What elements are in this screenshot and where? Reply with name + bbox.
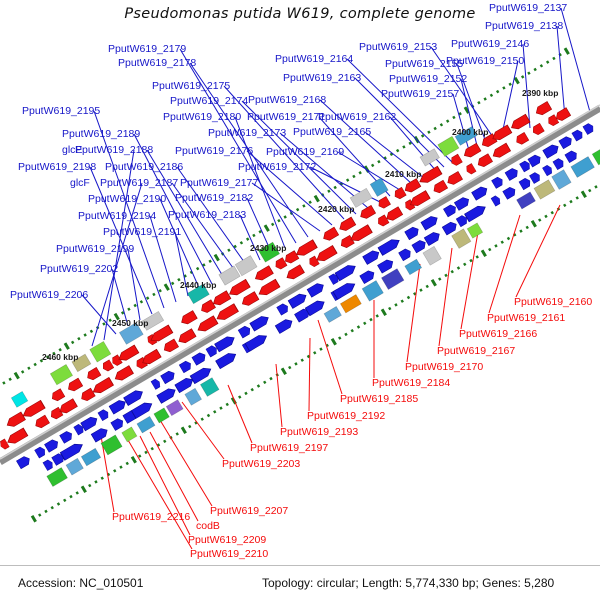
forward-gene-arrow[interactable] <box>472 185 490 200</box>
gene-label[interactable]: PputW619_2190 <box>88 194 166 205</box>
axis-tick-mark <box>494 244 497 247</box>
axis-tick-mark <box>271 223 274 226</box>
axis-tick-mark <box>358 171 361 174</box>
forward-gene-arrow[interactable] <box>528 153 543 167</box>
axis-tick-mark <box>214 254 220 262</box>
forward-gene-arrow[interactable] <box>98 408 110 420</box>
forward-gene-arrow[interactable] <box>572 129 584 141</box>
gene-label[interactable]: PputW619_2202 <box>40 264 118 275</box>
gene-feature-box[interactable] <box>200 378 219 397</box>
forward-gene-arrow[interactable] <box>109 398 127 414</box>
label-leader-line <box>228 385 252 443</box>
axis-tick-mark <box>196 267 199 270</box>
axis-tick-mark <box>344 333 347 336</box>
reverse-gene-arrow[interactable] <box>6 428 28 446</box>
forward-gene-arrow[interactable] <box>505 167 520 181</box>
axis-tick-mark <box>44 510 47 513</box>
axis-tick-mark <box>451 270 454 273</box>
gene-label[interactable]: PputW619_2179 <box>108 44 186 55</box>
gene-label[interactable]: glcE <box>62 145 82 156</box>
axis-tick-mark <box>551 211 554 214</box>
reverse-gene-arrow[interactable] <box>509 114 530 131</box>
reverse-gene-arrow[interactable] <box>101 360 114 373</box>
axis-tick-mark <box>401 299 404 302</box>
reverse-gene-arrow[interactable] <box>403 179 421 195</box>
label-leader-line <box>252 183 320 231</box>
forward-gene-arrow[interactable] <box>43 459 55 471</box>
axis-tick-mark <box>527 71 530 74</box>
gene-label[interactable]: PputW619_2177 <box>180 178 258 189</box>
axis-tick-mark <box>131 456 137 464</box>
forward-gene-arrow[interactable] <box>151 378 162 389</box>
reverse-gene-arrow[interactable] <box>462 143 481 159</box>
gene-feature-box[interactable] <box>467 223 483 238</box>
reverse-gene-arrow[interactable] <box>465 163 476 175</box>
axis-tick-mark <box>327 189 330 192</box>
gene-feature-box[interactable] <box>552 170 572 190</box>
axis-tick-mark <box>27 366 30 369</box>
axis-tick-mark <box>352 175 355 178</box>
gene-feature-box[interactable] <box>137 416 155 433</box>
axis-tick-mark <box>126 462 129 465</box>
reverse-gene-arrow[interactable] <box>177 329 196 346</box>
axis-tick-mark <box>388 307 391 310</box>
gene-feature-box[interactable] <box>423 246 441 265</box>
gene-feature-box[interactable] <box>122 427 137 442</box>
gene-feature-box[interactable] <box>340 295 361 313</box>
gene-label[interactable]: PputW619_2161 <box>487 313 565 324</box>
gene-label[interactable]: PputW619_2162 <box>318 112 396 123</box>
axis-tick-mark <box>213 410 216 413</box>
axis-tick-mark <box>357 325 360 328</box>
axis-tick-mark <box>338 336 341 339</box>
axis-tick-mark <box>552 57 555 60</box>
forward-gene-arrow[interactable] <box>307 281 326 297</box>
gene-feature-box[interactable] <box>50 364 72 384</box>
axis-tick-mark <box>33 363 36 366</box>
axis-tick-mark <box>90 330 93 333</box>
axis-tick-mark <box>496 90 499 93</box>
axis-tick-mark <box>88 484 91 487</box>
axis-tick-mark <box>501 240 504 243</box>
axis-tick-mark <box>176 432 179 435</box>
axis-tick-mark <box>483 97 486 100</box>
gene-label[interactable]: PputW619_2180 <box>163 112 241 123</box>
axis-tick-mark <box>288 366 291 369</box>
axis-tick-mark <box>377 160 380 163</box>
axis-tick-mark <box>314 195 320 203</box>
gene-label[interactable]: PputW619_2168 <box>248 95 326 106</box>
reverse-gene-arrow[interactable] <box>358 205 375 220</box>
axis-tick-mark <box>102 322 105 325</box>
forward-gene-arrow[interactable] <box>238 325 252 338</box>
forward-gene-arrow[interactable] <box>111 417 125 430</box>
reverse-gene-arrow[interactable] <box>285 265 305 282</box>
axis-tick-mark <box>219 406 222 409</box>
axis-tick-mark <box>396 149 399 152</box>
gene-label[interactable]: PputW619_2194 <box>78 211 156 222</box>
axis-tick-mark <box>446 119 449 122</box>
gene-feature-box[interactable] <box>219 266 240 285</box>
axis-tick-mark <box>438 277 441 280</box>
axis-tick-mark <box>164 283 170 291</box>
reverse-gene-arrow[interactable] <box>476 154 493 169</box>
axis-tick-mark <box>402 145 405 148</box>
gene-label[interactable]: codB <box>196 521 220 532</box>
label-leader-line <box>439 248 452 346</box>
axis-tick-mark <box>57 502 60 505</box>
forward-gene-arrow[interactable] <box>60 441 84 460</box>
axis-tick-mark <box>381 309 387 317</box>
axis-tick-mark <box>240 241 243 244</box>
gene-label[interactable]: PputW619_2160 <box>514 297 592 308</box>
gene-label[interactable]: PputW619_2167 <box>437 346 515 357</box>
gene-label[interactable]: PputW619_2210 <box>190 549 268 560</box>
axis-tick-mark <box>140 300 143 303</box>
axis-tick-mark <box>526 226 529 229</box>
axis-tick-mark <box>533 68 536 71</box>
gene-feature-box[interactable] <box>452 229 471 249</box>
axis-tick-mark <box>14 372 20 380</box>
reverse-gene-arrow[interactable] <box>393 187 406 200</box>
forward-gene-arrow[interactable] <box>192 351 207 365</box>
gene-label[interactable]: PputW619_2184 <box>372 378 450 389</box>
gene-label[interactable]: PputW619_2152 <box>389 74 467 85</box>
forward-gene-arrow[interactable] <box>492 176 505 189</box>
gene-feature-box[interactable] <box>47 468 68 487</box>
axis-tick-mark <box>519 229 522 232</box>
axis-tick-mark <box>94 480 97 483</box>
axis-tick-mark <box>419 288 422 291</box>
forward-gene-arrow[interactable] <box>81 415 99 431</box>
axis-tick-mark <box>369 318 372 321</box>
reverse-gene-arrow[interactable] <box>196 316 218 334</box>
reverse-gene-arrow[interactable] <box>491 143 511 160</box>
axis-tick-mark <box>301 358 304 361</box>
gene-label[interactable]: PputW619_2157 <box>381 89 459 100</box>
gene-label[interactable]: PputW619_2170 <box>405 362 483 373</box>
axis-tick-mark <box>127 307 130 310</box>
reverse-gene-arrow[interactable] <box>274 258 287 271</box>
forward-gene-arrow[interactable] <box>179 360 193 373</box>
axis-tick-mark <box>244 392 247 395</box>
axis-tick-mark <box>563 204 566 207</box>
gene-label[interactable]: PputW619_2138 <box>485 21 563 32</box>
axis-tick-mark <box>394 303 397 306</box>
gene-label[interactable]: PputW619_2187 <box>100 178 178 189</box>
reverse-gene-arrow[interactable] <box>113 366 133 383</box>
axis-tick-mark <box>152 293 155 296</box>
label-leader-line <box>182 402 224 459</box>
axis-tick-mark <box>8 378 11 381</box>
axis-tick-mark <box>351 329 354 332</box>
gene-feature-box[interactable] <box>81 448 101 466</box>
axis-tick-mark <box>319 347 322 350</box>
axis-tick-mark <box>346 178 349 181</box>
forward-gene-arrow[interactable] <box>491 195 502 206</box>
axis-tick-label: 2400 kbp <box>452 127 488 137</box>
gene-label[interactable]: PputW619_2169 <box>266 147 344 158</box>
reverse-gene-arrow[interactable] <box>21 400 45 419</box>
axis-tick-mark <box>113 469 116 472</box>
gene-label[interactable]: PputW619_2183 <box>168 210 246 221</box>
forward-gene-arrow[interactable] <box>157 386 178 403</box>
axis-tick-mark <box>302 204 305 207</box>
gene-feature-box[interactable] <box>11 391 28 407</box>
reverse-gene-arrow[interactable] <box>85 367 101 381</box>
axis-tick-mark <box>171 282 174 285</box>
reverse-gene-arrow[interactable] <box>253 266 273 283</box>
axis-tick-label: 2410 kbp <box>385 169 421 179</box>
gene-label[interactable]: PputW619_2207 <box>210 506 288 517</box>
gene-label[interactable]: PputW619_2174 <box>170 96 248 107</box>
forward-gene-arrow[interactable] <box>399 247 413 260</box>
gene-label[interactable]: PputW619_2173 <box>208 128 286 139</box>
axis-tick-label: 2390 kbp <box>522 88 558 98</box>
gene-label[interactable]: PputW619_2195 <box>22 106 100 117</box>
gene-label[interactable]: PputW619_2172 <box>238 162 316 173</box>
reverse-gene-arrow[interactable] <box>294 240 317 259</box>
reverse-gene-arrow[interactable] <box>534 101 552 116</box>
axis-tick-mark <box>508 83 511 86</box>
reverse-gene-arrow[interactable] <box>321 227 338 242</box>
axis-tick-label: 2450 kbp <box>112 318 148 328</box>
axis-tick-mark <box>246 237 249 240</box>
gene-label[interactable]: PputW619_2189 <box>62 129 140 140</box>
forward-gene-arrow[interactable] <box>131 400 154 418</box>
axis-tick-mark <box>69 495 72 498</box>
gene-label[interactable]: PputW619_2206 <box>10 290 88 301</box>
axis-tick-mark <box>431 279 437 287</box>
forward-gene-arrow[interactable] <box>565 149 579 162</box>
gene-feature-box[interactable] <box>517 192 536 209</box>
reverse-gene-arrow[interactable] <box>240 292 259 308</box>
axis-tick-mark <box>444 274 447 277</box>
gene-label[interactable]: PputW619_2192 <box>307 411 385 422</box>
gene-label[interactable]: PputW619_2185 <box>340 394 418 405</box>
gene-label[interactable]: PputW619_2165 <box>293 127 371 138</box>
forward-gene-arrow[interactable] <box>216 350 238 368</box>
axis-tick-mark <box>488 248 491 251</box>
forward-gene-arrow[interactable] <box>543 143 561 158</box>
gene-label[interactable]: PputW619_2198 <box>18 162 96 173</box>
forward-gene-arrow[interactable] <box>45 438 60 452</box>
axis-tick-mark <box>376 314 379 317</box>
axis-tick-mark <box>238 395 241 398</box>
axis-tick-mark <box>540 64 543 67</box>
axis-tick-mark <box>363 322 366 325</box>
axis-tick-mark <box>476 255 479 258</box>
axis-tick-mark <box>269 377 272 380</box>
gene-label[interactable]: PputW619_2216 <box>112 512 190 523</box>
axis-tick-mark <box>427 130 430 133</box>
forward-strand-genes[interactable] <box>16 122 595 470</box>
reverse-gene-arrow[interactable] <box>50 389 65 403</box>
genome-map-viewer: Pseudomonas putida W619, complete genome… <box>0 0 600 600</box>
axis-tick-mark <box>469 259 472 262</box>
axis-tick-mark <box>83 333 86 336</box>
forward-gene-arrow[interactable] <box>363 249 381 265</box>
axis-tick-label: 2420 kbp <box>318 204 354 214</box>
axis-tick-mark <box>308 201 311 204</box>
axis-tick-mark <box>521 75 524 78</box>
reverse-gene-arrow[interactable] <box>5 412 26 429</box>
axis-tick-label: 2430 kbp <box>250 243 286 253</box>
axis-tick-mark <box>277 219 280 222</box>
axis-tick-mark <box>201 417 204 420</box>
forward-gene-arrow[interactable] <box>305 298 326 316</box>
axis-tick-mark <box>101 476 104 479</box>
axis-tick-mark <box>281 368 287 376</box>
label-leader-line <box>90 167 152 314</box>
accession-text: Accession: NC_010501 <box>18 576 143 590</box>
axis-tick-mark <box>163 440 166 443</box>
gene-feature-box[interactable] <box>362 281 383 302</box>
forward-gene-arrow[interactable] <box>519 177 532 190</box>
gene-feature-box[interactable] <box>420 149 440 166</box>
axis-tick-mark <box>63 499 66 502</box>
reverse-gene-arrow[interactable] <box>199 300 215 315</box>
axis-tick-mark <box>531 220 537 228</box>
forward-gene-arrow[interactable] <box>161 369 177 383</box>
gene-label[interactable]: PputW619_2199 <box>56 244 134 255</box>
forward-gene-arrow[interactable] <box>424 230 441 245</box>
forward-gene-arrow[interactable] <box>553 157 565 169</box>
forward-gene-arrow[interactable] <box>277 302 290 315</box>
gene-label[interactable]: PputW619_2188 <box>75 145 153 156</box>
gene-label[interactable]: PputW619_2171 <box>247 112 325 123</box>
gene-feature-box[interactable] <box>534 180 555 199</box>
reverse-gene-arrow[interactable] <box>66 378 83 393</box>
axis-tick-mark <box>208 260 211 263</box>
axis-tick-mark <box>490 94 493 97</box>
axis-tick-mark <box>81 486 87 494</box>
reverse-gene-arrow[interactable] <box>449 154 462 167</box>
axis-tick-mark <box>433 127 436 130</box>
reverse-gene-arrow[interactable] <box>377 197 391 210</box>
gene-feature-box[interactable] <box>154 408 170 423</box>
forward-gene-arrow[interactable] <box>583 122 595 134</box>
axis-tick-mark <box>133 304 136 307</box>
gene-label[interactable]: PputW619_2155 <box>385 59 463 70</box>
axis-tick-mark <box>252 234 255 237</box>
axis-tick-mark <box>207 414 210 417</box>
gene-label[interactable]: PputW619_2166 <box>459 329 537 340</box>
forward-gene-arrow[interactable] <box>559 135 574 149</box>
axis-tick-mark <box>58 348 61 351</box>
axis-tick-mark <box>263 381 266 384</box>
gene-feature-box[interactable] <box>592 146 600 165</box>
forward-gene-arrow[interactable] <box>275 317 294 333</box>
axis-tick-mark <box>181 427 187 435</box>
gene-label[interactable]: PputW619_2164 <box>275 54 353 65</box>
forward-gene-arrow[interactable] <box>503 186 517 200</box>
gene-label[interactable]: PputW619_2178 <box>118 58 196 69</box>
gene-label[interactable]: PputW619_2175 <box>152 81 230 92</box>
label-leader-line <box>276 364 282 427</box>
gene-feature-box[interactable] <box>66 458 83 475</box>
forward-gene-arrow[interactable] <box>360 269 376 284</box>
axis-tick-mark <box>64 342 70 350</box>
axis-tick-mark <box>538 218 541 221</box>
gene-label[interactable]: PputW619_2186 <box>105 162 183 173</box>
forward-gene-arrow[interactable] <box>60 430 74 443</box>
reverse-gene-arrow[interactable] <box>432 180 448 195</box>
gene-label[interactable]: PputW619_2193 <box>280 427 358 438</box>
reverse-gene-arrow[interactable] <box>337 217 355 233</box>
reverse-gene-arrow[interactable] <box>0 439 9 450</box>
gene-feature-box[interactable] <box>166 400 183 416</box>
axis-tick-mark <box>594 185 597 188</box>
gene-label[interactable]: PputW619_2137 <box>489 3 567 14</box>
gene-label[interactable]: PputW619_2163 <box>283 73 361 84</box>
label-leader-line <box>309 338 310 411</box>
reverse-gene-arrow[interactable] <box>79 388 95 402</box>
axis-tick-mark <box>407 296 410 299</box>
gene-label[interactable]: PputW619_2191 <box>103 227 181 238</box>
reverse-gene-arrow[interactable] <box>446 171 463 186</box>
axis-tick-mark <box>463 263 466 266</box>
gene-label[interactable]: PputW619_2176 <box>175 146 253 157</box>
reverse-gene-arrow[interactable] <box>162 339 179 354</box>
forward-gene-arrow[interactable] <box>245 332 269 351</box>
forward-gene-arrow[interactable] <box>529 171 541 183</box>
label-leader-line <box>557 26 565 118</box>
axis-tick-mark <box>426 285 429 288</box>
axis-tick-mark <box>257 384 260 387</box>
gene-label[interactable]: PputW619_2146 <box>451 39 529 50</box>
label-leader-line <box>318 320 342 394</box>
axis-tick-mark <box>227 248 230 251</box>
axis-tick-mark <box>371 164 374 167</box>
forward-gene-arrow[interactable] <box>378 258 396 273</box>
label-leader-line <box>240 215 260 260</box>
forward-gene-arrow[interactable] <box>465 203 488 222</box>
gene-label[interactable]: PputW619_2153 <box>359 42 437 53</box>
forward-gene-arrow[interactable] <box>421 214 440 230</box>
gene-feature-box[interactable] <box>438 136 459 156</box>
reverse-gene-arrow[interactable] <box>315 246 337 264</box>
forward-gene-arrow[interactable] <box>16 455 31 469</box>
gene-label[interactable]: PputW619_2182 <box>175 193 253 204</box>
forward-gene-arrow[interactable] <box>454 196 471 211</box>
forward-gene-arrow[interactable] <box>35 446 47 458</box>
axis-tick-mark <box>546 60 549 63</box>
reverse-gene-arrow[interactable] <box>514 132 528 146</box>
gene-feature-box[interactable] <box>324 306 341 322</box>
gene-label[interactable]: PputW619_2209 <box>188 535 266 546</box>
forward-gene-arrow[interactable] <box>405 225 421 239</box>
forward-gene-arrow[interactable] <box>412 239 428 253</box>
gene-label[interactable]: glcF <box>70 178 90 189</box>
reverse-gene-arrow[interactable] <box>179 311 197 327</box>
reverse-gene-arrow[interactable] <box>33 415 49 430</box>
reverse-gene-arrow[interactable] <box>531 123 544 136</box>
gene-label[interactable]: PputW619_2197 <box>250 443 328 454</box>
axis-tick-mark <box>576 196 579 199</box>
status-footer: Accession: NC_010501 Topology: circular;… <box>0 565 600 600</box>
axis-tick-mark <box>296 208 299 211</box>
gene-feature-box[interactable] <box>185 388 202 405</box>
gene-label[interactable]: PputW619_2203 <box>222 459 300 470</box>
axis-tick-mark <box>331 338 337 346</box>
axis-tick-mark <box>21 370 24 373</box>
forward-gene-arrow[interactable] <box>542 164 553 176</box>
axis-tick-mark <box>71 341 74 344</box>
label-leader-line <box>150 432 198 521</box>
forward-gene-arrow[interactable] <box>442 220 458 235</box>
axis-tick-mark <box>333 186 336 189</box>
